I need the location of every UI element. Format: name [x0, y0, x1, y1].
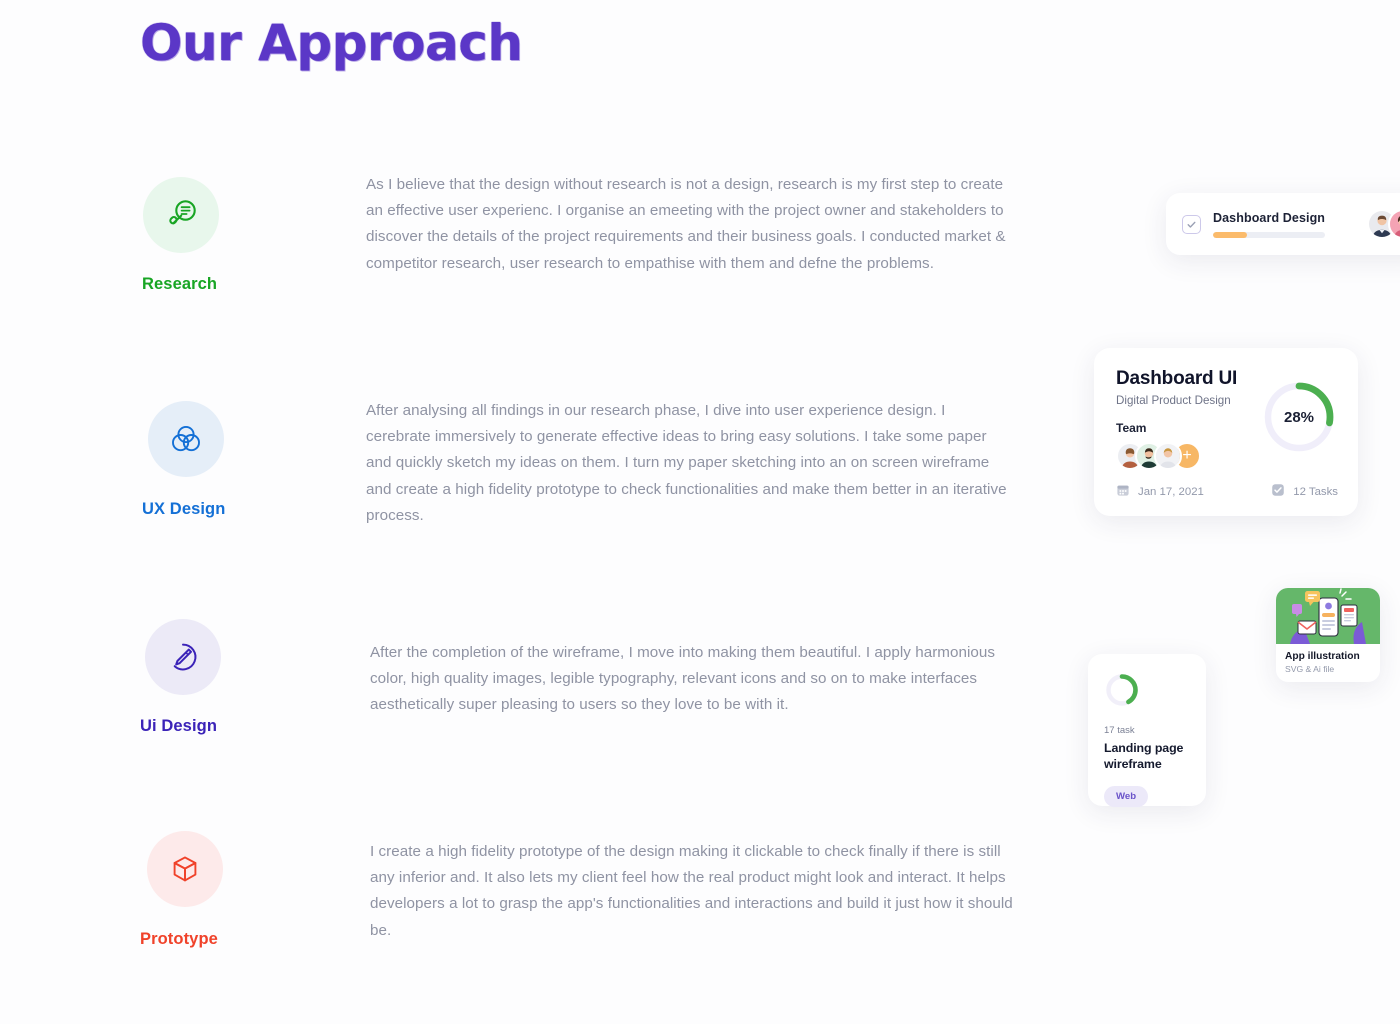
step-research-label: Research [142, 275, 217, 294]
project-progress-donut: 28% [1260, 378, 1338, 461]
landing-card-title: Landing page wireframe [1104, 740, 1190, 772]
project-date: Jan 17, 2021 [1116, 483, 1204, 500]
dashboard-design-task-card[interactable]: Dashboard Design [1166, 193, 1400, 255]
step-ux-label: UX Design [142, 500, 225, 519]
app-illustration-body: App illustration SVG & Ai file [1276, 644, 1380, 674]
step-prototype-text: I create a high fidelity prototype of th… [370, 839, 1018, 944]
pencil-circle-icon [145, 619, 221, 695]
task-body: Dashboard Design [1213, 211, 1367, 238]
progress-ring-icon [1104, 672, 1190, 713]
checkbox-checked-icon [1271, 483, 1285, 500]
page-title: Our Approach [140, 14, 522, 72]
step-ux-text: After analysing all findings in our rese… [366, 398, 1014, 529]
project-tasks: 12 Tasks [1271, 483, 1338, 500]
step-ui-label: Ui Design [140, 717, 217, 736]
dashboard-ui-project-card[interactable]: Dashboard UI Digital Product Design Team [1094, 348, 1358, 516]
app-illustration-thumbnail [1276, 588, 1380, 644]
venn-circles-icon [148, 401, 224, 477]
task-progress-bar [1213, 232, 1325, 238]
magnifier-document-icon [143, 177, 219, 253]
avatar [1154, 442, 1182, 470]
step-ui-text: After the completion of the wireframe, I… [370, 640, 1018, 719]
task-progress-fill [1213, 232, 1247, 238]
app-illustration-subtitle: SVG & Ai file [1285, 664, 1371, 674]
step-research-text: As I believe that the design without res… [366, 172, 1014, 277]
status-badge[interactable]: Web [1104, 786, 1148, 807]
landing-page-wireframe-card[interactable]: 17 task Landing page wireframe Web [1088, 654, 1206, 806]
cube-3d-icon [147, 831, 223, 907]
app-illustration-title: App illustration [1285, 651, 1371, 662]
app-illustration-card[interactable]: App illustration SVG & Ai file [1276, 588, 1380, 682]
checkbox-checked-icon[interactable] [1182, 215, 1201, 234]
landing-task-count: 17 task [1104, 725, 1190, 736]
task-title: Dashboard Design [1213, 211, 1367, 225]
project-date-label: Jan 17, 2021 [1138, 486, 1204, 498]
step-research-icon-wrap [143, 177, 219, 253]
project-tasks-label: 12 Tasks [1293, 486, 1338, 498]
task-avatar-row [1367, 209, 1400, 239]
step-prototype-icon-wrap [147, 831, 223, 907]
step-ui-icon-wrap [145, 619, 221, 695]
step-ux-icon-wrap [148, 401, 224, 477]
step-prototype-label: Prototype [140, 930, 218, 949]
project-footer: Jan 17, 2021 12 Tasks [1116, 483, 1338, 500]
project-progress-value: 28% [1284, 409, 1314, 426]
calendar-icon [1116, 483, 1130, 500]
